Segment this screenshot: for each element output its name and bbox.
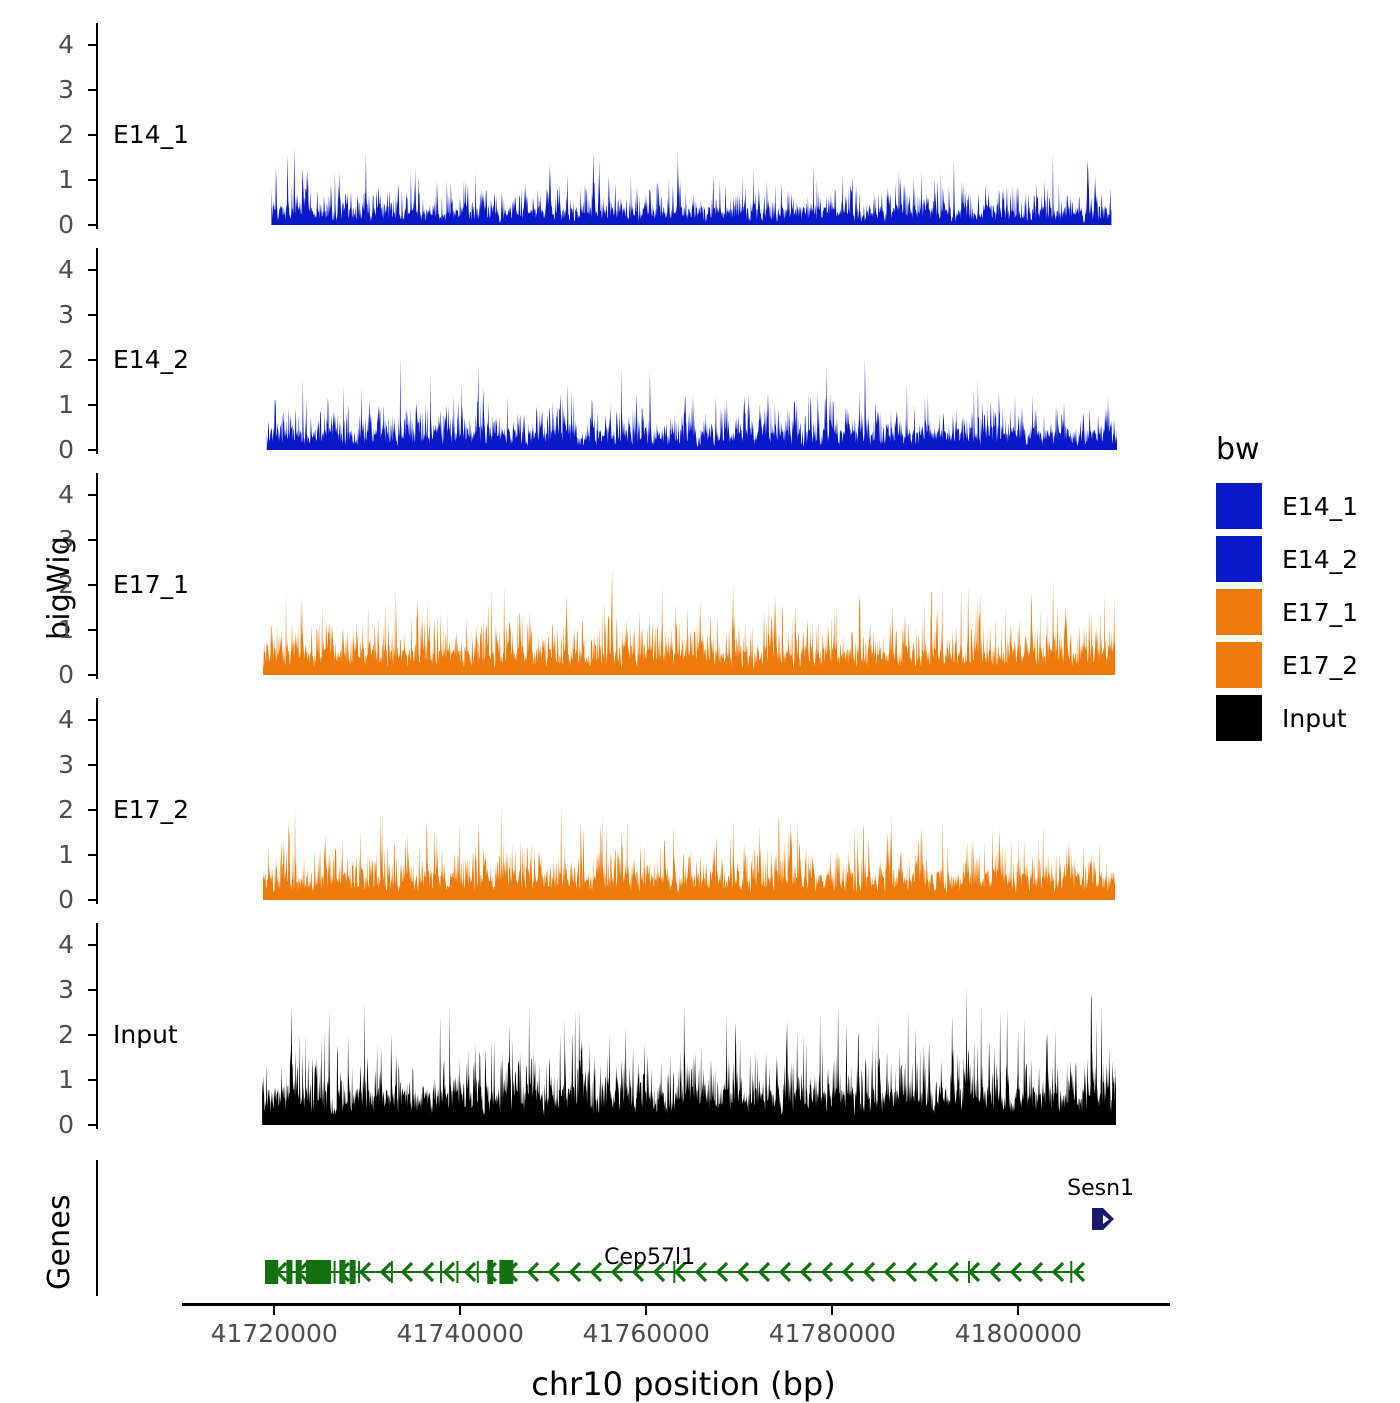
- x-tick: [645, 1306, 647, 1315]
- legend-item-e14_2[interactable]: E14_2: [1216, 536, 1358, 582]
- x-tick: [273, 1306, 275, 1315]
- x-tick: [459, 1306, 461, 1315]
- y-tick: [88, 224, 96, 226]
- y-tick: [88, 44, 96, 46]
- y-tick: [88, 269, 96, 271]
- y-axis-line: [96, 248, 98, 454]
- signal-track-e17_1: [237, 495, 1130, 675]
- y-tick-label: 1: [16, 167, 74, 192]
- genome-browser-figure: bigWig Genes 01234E14_101234E14_201234E1…: [0, 0, 1400, 1400]
- panel-label-input: Input: [113, 1022, 178, 1047]
- y-tick-label: 1: [16, 392, 74, 417]
- y-tick: [88, 539, 96, 541]
- signal-track-e14_1: [237, 45, 1130, 225]
- y-axis-line: [96, 23, 98, 229]
- y-tick: [88, 674, 96, 676]
- y-tick: [88, 314, 96, 316]
- signal-track-input: [237, 945, 1130, 1125]
- y-tick-label: 0: [16, 437, 74, 462]
- y-tick-label: 0: [16, 1112, 74, 1137]
- legend-swatch-input: [1216, 695, 1262, 741]
- x-tick-label: 41780000: [732, 1321, 932, 1346]
- panel-label-e17_1: E17_1: [113, 572, 189, 597]
- y-tick-label: 3: [16, 77, 74, 102]
- legend-label-e17_2: E17_2: [1282, 653, 1358, 678]
- y-tick-label: 3: [16, 527, 74, 552]
- x-tick: [1017, 1306, 1019, 1315]
- y-tick-label: 1: [16, 842, 74, 867]
- y-tick: [88, 1124, 96, 1126]
- x-tick-label: 41760000: [546, 1321, 746, 1346]
- gene-glyph-sesn1[interactable]: [1090, 1206, 1120, 1238]
- y-tick-label: 4: [16, 32, 74, 57]
- y-tick-label: 4: [16, 482, 74, 507]
- legend-swatch-e14_1: [1216, 483, 1262, 529]
- x-tick: [831, 1306, 833, 1315]
- y-tick-label: 2: [16, 797, 74, 822]
- y-tick: [88, 944, 96, 946]
- y-tick-label: 0: [16, 887, 74, 912]
- y-tick: [88, 404, 96, 406]
- legend-item-input[interactable]: Input: [1216, 695, 1347, 741]
- signal-track-e17_2: [237, 720, 1130, 900]
- legend-swatch-e14_2: [1216, 536, 1262, 582]
- genes-axis-title: Genes: [42, 1194, 77, 1290]
- y-tick: [88, 1034, 96, 1036]
- x-tick-label: 41740000: [360, 1321, 560, 1346]
- signal-track-e14_2: [237, 270, 1130, 450]
- legend-label-input: Input: [1282, 706, 1347, 731]
- y-axis-line: [96, 698, 98, 904]
- legend-label-e17_1: E17_1: [1282, 600, 1358, 625]
- y-tick: [88, 854, 96, 856]
- y-tick: [88, 359, 96, 361]
- legend-swatch-e17_1: [1216, 589, 1262, 635]
- y-tick-label: 2: [16, 572, 74, 597]
- x-axis-line: [182, 1303, 1170, 1306]
- y-tick: [88, 494, 96, 496]
- panel-label-e14_2: E14_2: [113, 347, 189, 372]
- y-tick: [88, 89, 96, 91]
- y-tick: [88, 809, 96, 811]
- y-tick-label: 3: [16, 752, 74, 777]
- y-tick: [88, 764, 96, 766]
- legend-item-e17_2[interactable]: E17_2: [1216, 642, 1358, 688]
- y-tick-label: 1: [16, 617, 74, 642]
- y-tick-label: 0: [16, 212, 74, 237]
- legend-title: bw: [1216, 432, 1260, 467]
- y-tick: [88, 989, 96, 991]
- y-tick-label: 3: [16, 977, 74, 1002]
- panel-label-e17_2: E17_2: [113, 797, 189, 822]
- y-tick-label: 2: [16, 347, 74, 372]
- y-tick-label: 0: [16, 662, 74, 687]
- y-tick-label: 4: [16, 932, 74, 957]
- legend-swatch-e17_2: [1216, 642, 1262, 688]
- x-tick-label: 41720000: [174, 1321, 374, 1346]
- legend-item-e17_1[interactable]: E17_1: [1216, 589, 1358, 635]
- y-tick: [88, 899, 96, 901]
- x-axis-title: chr10 position (bp): [177, 1365, 1190, 1403]
- y-tick: [88, 584, 96, 586]
- y-tick: [88, 179, 96, 181]
- x-tick-label: 41800000: [918, 1321, 1118, 1346]
- y-tick-label: 3: [16, 302, 74, 327]
- y-tick: [88, 134, 96, 136]
- legend-label-e14_1: E14_1: [1282, 494, 1358, 519]
- y-tick: [88, 449, 96, 451]
- y-tick-label: 2: [16, 1022, 74, 1047]
- legend-label-e14_2: E14_2: [1282, 547, 1358, 572]
- y-axis-line: [96, 473, 98, 679]
- gene-label-sesn1: Sesn1: [1036, 1178, 1166, 1200]
- y-axis-line: [96, 923, 98, 1129]
- y-tick: [88, 719, 96, 721]
- gene-label-cep57l1: Cep57l1: [560, 1247, 740, 1269]
- legend-item-e14_1[interactable]: E14_1: [1216, 483, 1358, 529]
- y-tick-label: 2: [16, 122, 74, 147]
- panel-label-e14_1: E14_1: [113, 122, 189, 147]
- y-tick-label: 4: [16, 257, 74, 282]
- genes-axis-line: [96, 1160, 98, 1296]
- y-tick: [88, 629, 96, 631]
- y-tick-label: 4: [16, 707, 74, 732]
- y-tick-label: 1: [16, 1067, 74, 1092]
- y-tick: [88, 1079, 96, 1081]
